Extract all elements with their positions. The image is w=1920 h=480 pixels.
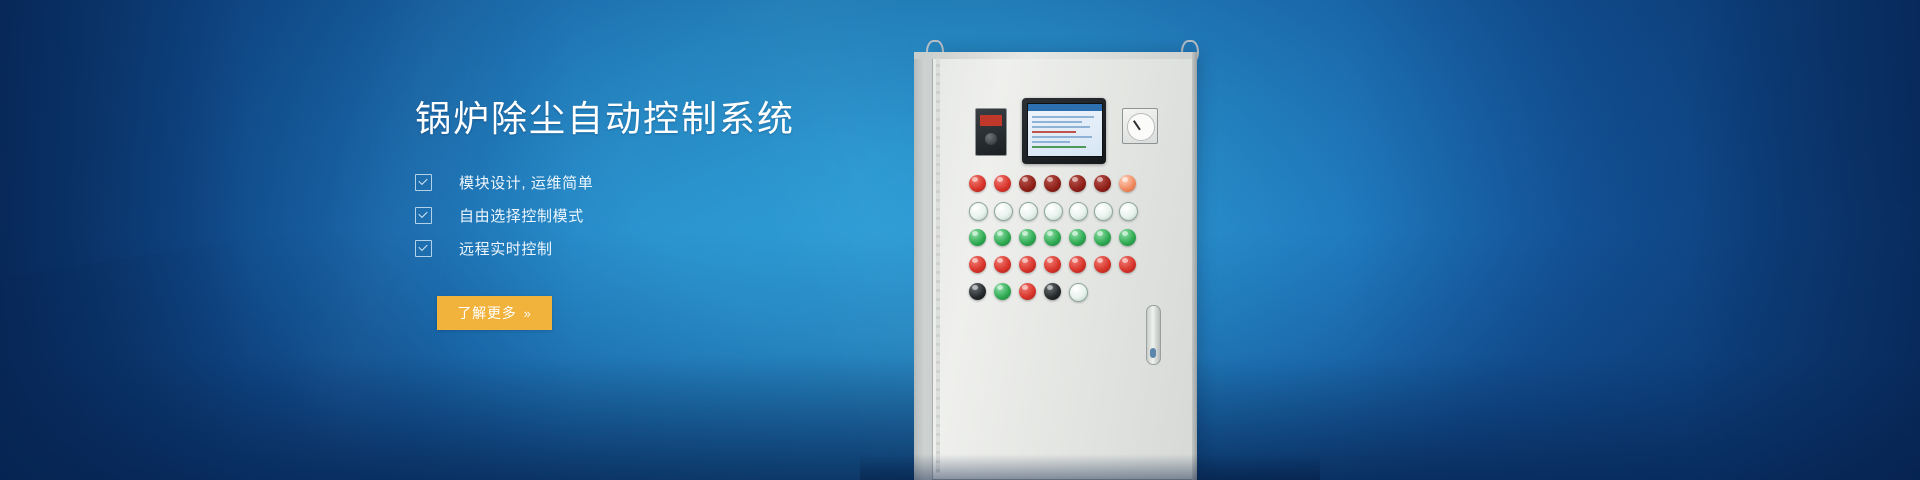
indicator-lamp-green[interactable] — [994, 283, 1011, 300]
indicator-lamp-red[interactable] — [969, 175, 986, 192]
checkbox-checked-icon — [415, 207, 432, 224]
cabinet-door-handle — [1146, 305, 1161, 365]
feature-label-3: 远程实时控制 — [459, 238, 553, 259]
chevron-right-icon: » — [524, 306, 532, 321]
cabinet-hinge-strip — [936, 58, 940, 473]
indicator-lamp-red[interactable] — [1094, 256, 1111, 273]
indicator-lamp-green[interactable] — [1019, 229, 1036, 246]
door-lock-icon — [1150, 348, 1156, 358]
indicator-lamp-red[interactable] — [1019, 283, 1036, 300]
hmi-screen-line — [1032, 116, 1094, 118]
checkbox-checked-icon — [415, 174, 432, 191]
hmi-screen-line — [1032, 121, 1082, 123]
hmi-title-bar — [1028, 104, 1102, 111]
hmi-screen — [1027, 103, 1103, 157]
feature-item-3: 远程实时控制 — [415, 236, 975, 260]
meter-knob-icon — [985, 133, 997, 145]
indicator-lamp-white[interactable] — [1119, 202, 1138, 221]
cabinet-right-edge — [1192, 52, 1197, 480]
indicator-lamp-green[interactable] — [994, 229, 1011, 246]
indicator-lamp-black[interactable] — [1044, 283, 1061, 300]
indicator-lamp-darkred[interactable] — [1019, 175, 1036, 192]
indicator-lamp-red[interactable] — [994, 256, 1011, 273]
digital-meter — [975, 108, 1007, 156]
indicator-lamp-green[interactable] — [1094, 229, 1111, 246]
hmi-touchscreen — [1022, 98, 1106, 164]
indicator-lamp-red[interactable] — [969, 256, 986, 273]
gauge-face — [1127, 113, 1155, 141]
indicator-lamp-white[interactable] — [1094, 202, 1113, 221]
hmi-screen-line — [1032, 131, 1076, 133]
feature-item-2: 自由选择控制模式 — [415, 203, 975, 227]
indicator-lamp-white[interactable] — [1069, 202, 1088, 221]
indicator-lamp-red[interactable] — [1119, 256, 1136, 273]
indicator-lamp-green[interactable] — [1044, 229, 1061, 246]
indicator-lamp-white[interactable] — [994, 202, 1013, 221]
indicator-lamp-red[interactable] — [994, 175, 1011, 192]
hmi-screen-line — [1032, 141, 1070, 143]
cabinet-top-edge — [914, 52, 1194, 59]
hmi-screen-line — [1032, 146, 1086, 148]
learn-more-button[interactable]: 了解更多 » — [437, 296, 552, 330]
analog-gauge — [1122, 108, 1158, 144]
indicator-lamp-red[interactable] — [1019, 256, 1036, 273]
indicator-lamp-red[interactable] — [1069, 256, 1086, 273]
control-cabinet-photo — [900, 0, 1280, 480]
indicator-lamp-darkred[interactable] — [1044, 175, 1061, 192]
banner-title: 锅炉除尘自动控制系统 — [415, 98, 975, 140]
hmi-screen-line — [1032, 126, 1090, 128]
feature-item-1: 模块设计, 运维简单 — [415, 170, 975, 194]
indicator-lamp-black[interactable] — [969, 283, 986, 300]
indicator-lamp-white[interactable] — [969, 202, 988, 221]
floor-shadow — [860, 454, 1320, 480]
indicator-lamp-green[interactable] — [1119, 229, 1136, 246]
meter-display — [980, 115, 1002, 126]
indicator-lamp-white[interactable] — [1044, 202, 1063, 221]
indicator-lamp-darkred[interactable] — [1094, 175, 1111, 192]
hmi-screen-line — [1032, 136, 1092, 138]
feature-list: 模块设计, 运维简单 自由选择控制模式 远程实时控制 — [415, 170, 975, 260]
checkbox-checked-icon — [415, 240, 432, 257]
hero-banner: 锅炉除尘自动控制系统 模块设计, 运维简单 自由选择控制模式 远程实时控制 了解… — [0, 0, 1920, 480]
indicator-lamp-darkred[interactable] — [1069, 175, 1086, 192]
indicator-lamp-red[interactable] — [1044, 256, 1061, 273]
feature-label-2: 自由选择控制模式 — [459, 205, 584, 226]
indicator-lamp-green[interactable] — [969, 229, 986, 246]
indicator-lamp-white[interactable] — [1019, 202, 1038, 221]
indicator-lamp-orange[interactable] — [1119, 175, 1136, 192]
banner-content: 锅炉除尘自动控制系统 模块设计, 运维简单 自由选择控制模式 远程实时控制 了解… — [415, 98, 975, 330]
indicator-lamp-white[interactable] — [1069, 283, 1088, 302]
learn-more-label: 了解更多 — [457, 303, 516, 323]
indicator-lamp-green[interactable] — [1069, 229, 1086, 246]
feature-label-1: 模块设计, 运维简单 — [459, 172, 593, 193]
